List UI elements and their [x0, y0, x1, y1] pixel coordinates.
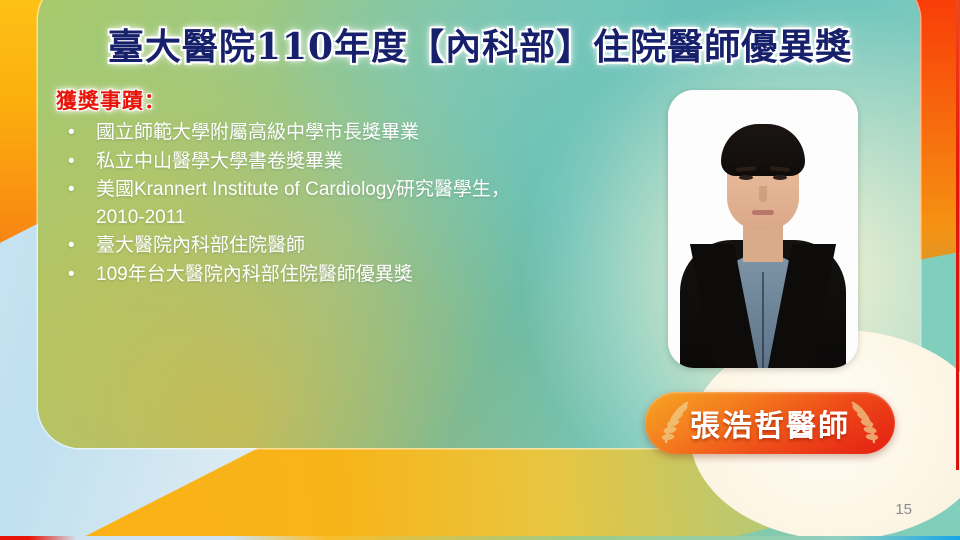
- list-item-text: 臺大醫院內科部住院醫師: [96, 235, 305, 256]
- list-item: • 私立中山醫學大學書卷獎畢業: [56, 148, 656, 176]
- slide-canvas: 臺大醫院110年度【內科部】住院醫師優異獎 獲獎事蹟： • 國立師範大學附屬高級…: [0, 0, 960, 540]
- doctor-name: 張浩哲醫師: [690, 401, 850, 445]
- panel-red-edge-line: [956, 0, 959, 470]
- list-item-text: 國立師範大學附屬高級中學市長獎畢業: [96, 122, 419, 143]
- list-item: • 國立師範大學附屬高級中學市長獎畢業: [56, 119, 656, 147]
- person-mouth: [752, 210, 774, 215]
- list-item: • 美國Krannert Institute of Cardiology研究醫學…: [56, 176, 656, 231]
- list-item: • 臺大醫院內科部住院醫師: [56, 232, 656, 260]
- bullet-icon: •: [68, 148, 75, 176]
- bullet-icon: •: [68, 261, 75, 289]
- list-item: • 109年台大醫院內科部住院醫師優異獎: [56, 261, 656, 289]
- page-title: 臺大醫院110年度【內科部】住院醫師優異獎: [0, 18, 960, 70]
- person-nose: [759, 186, 767, 202]
- laurel-branch-icon: [659, 400, 693, 446]
- achievements-block: 獲獎事蹟： • 國立師範大學附屬高級中學市長獎畢業 • 私立中山醫學大學書卷獎畢…: [56, 88, 656, 289]
- bullet-icon: •: [68, 232, 75, 260]
- portrait-photo: [668, 90, 858, 368]
- list-item-text: 109年台大醫院內科部住院醫師優異獎: [96, 264, 413, 285]
- name-badge: 張浩哲醫師: [645, 392, 895, 454]
- laurel-branch-icon: [847, 400, 881, 446]
- page-number: 15: [895, 501, 912, 518]
- list-item-text: 美國Krannert Institute of Cardiology研究醫學生，: [96, 179, 510, 200]
- achievements-heading: 獲獎事蹟：: [56, 88, 656, 113]
- bottom-accent-line: [0, 536, 960, 540]
- list-item-text: 私立中山醫學大學書卷獎畢業: [96, 151, 343, 172]
- list-item-continuation: 2010-2011: [96, 204, 656, 232]
- achievements-list: • 國立師範大學附屬高級中學市長獎畢業 • 私立中山醫學大學書卷獎畢業 • 美國…: [56, 119, 656, 288]
- person-eye-right: [773, 175, 787, 180]
- bullet-icon: •: [68, 176, 75, 204]
- bullet-icon: •: [68, 119, 75, 147]
- person-eye-left: [739, 175, 753, 180]
